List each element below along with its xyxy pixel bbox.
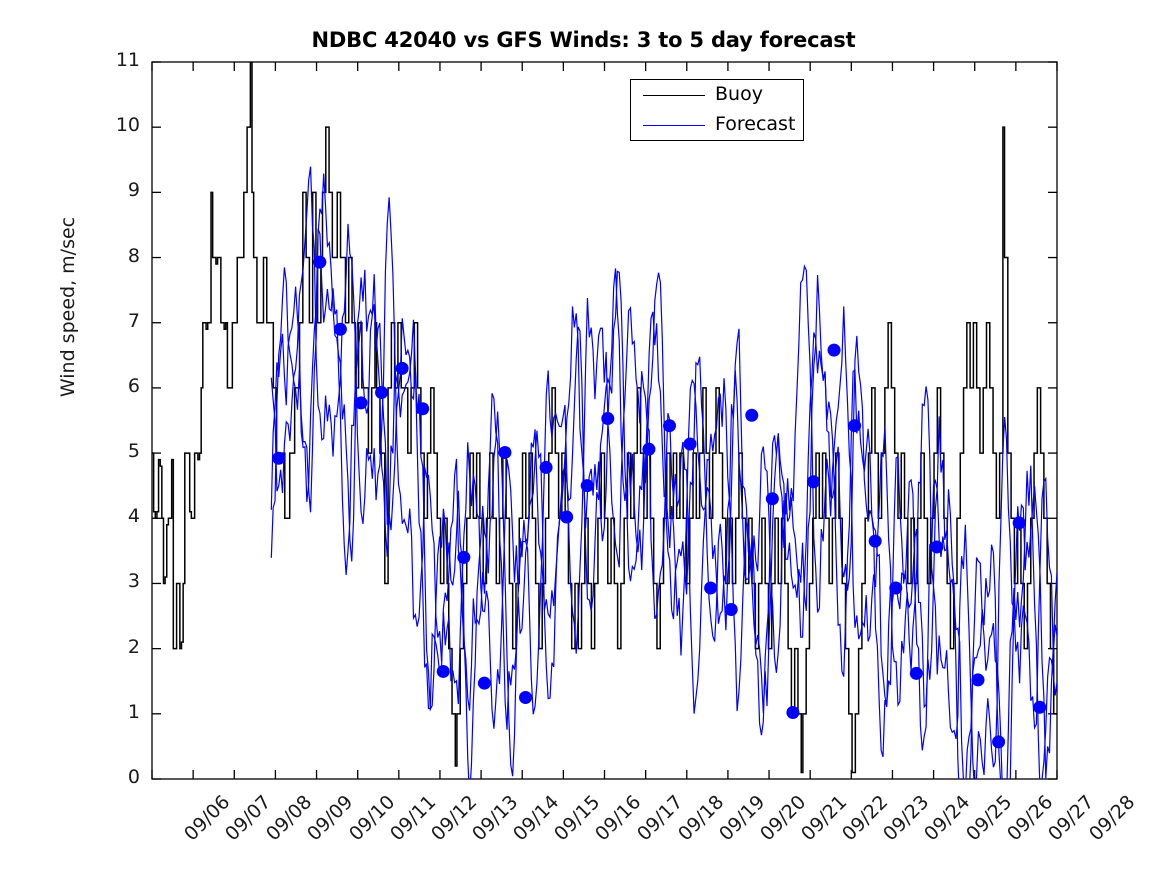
forecast-marker-point (478, 677, 491, 690)
plot-canvas (0, 0, 1167, 875)
y-tick-label-5: 5 (100, 440, 140, 462)
y-tick-label-9: 9 (100, 179, 140, 201)
legend-item-buoy: Buoy (631, 80, 805, 111)
forecast-marker-point (910, 667, 923, 680)
forecast-marker-point (869, 535, 882, 548)
forecast-marker-point (807, 475, 820, 488)
forecast-marker-point (828, 344, 841, 357)
forecast-marker-point (642, 443, 655, 456)
forecast-marker-point (396, 362, 409, 375)
forecast-marker-point (354, 396, 367, 409)
forecast-marker-point (334, 323, 347, 336)
forecast-marker-point (437, 665, 450, 678)
y-tick-label-6: 6 (100, 375, 140, 397)
y-tick-label-1: 1 (100, 701, 140, 723)
forecast-marker-point (581, 479, 594, 492)
forecast-marker-point (519, 691, 532, 704)
forecast-marker-point (375, 386, 388, 399)
forecast-marker-point (313, 256, 326, 269)
forecast-marker-point (766, 492, 779, 505)
legend-item-forecast: Forecast (631, 110, 805, 141)
y-tick-label-2: 2 (100, 636, 140, 658)
legend-label-buoy: Buoy (715, 83, 763, 105)
y-tick-label-4: 4 (100, 505, 140, 527)
forecast-marker-point (704, 582, 717, 595)
forecast-marker-point (848, 419, 861, 432)
legend-label-forecast: Forecast (715, 113, 795, 135)
y-tick-label-10: 10 (100, 114, 140, 136)
forecast-marker-point (992, 735, 1005, 748)
forecast-marker-point (1033, 701, 1046, 714)
y-tick-label-3: 3 (100, 570, 140, 592)
forecast-marker-point (725, 603, 738, 616)
y-tick-label-0: 0 (100, 766, 140, 788)
y-tick-label-11: 11 (100, 49, 140, 71)
forecast-marker-point (457, 551, 470, 564)
legend-swatch-forecast (643, 125, 705, 126)
forecast-marker-point (498, 446, 511, 459)
forecast-marker-point (601, 412, 614, 425)
forecast-marker-point (972, 673, 985, 686)
forecast-marker-point (930, 540, 943, 553)
chart-figure: NDBC 42040 vs GFS Winds: 3 to 5 day fore… (0, 0, 1167, 875)
forecast-marker-point (889, 582, 902, 595)
forecast-marker-point (560, 510, 573, 523)
forecast-marker-point (786, 706, 799, 719)
forecast-marker-point (663, 419, 676, 432)
forecast-marker-point (540, 461, 553, 474)
y-tick-label-7: 7 (100, 310, 140, 332)
chart-legend: Buoy Forecast (630, 79, 804, 141)
forecast-series (271, 167, 1057, 805)
forecast-marker-point (272, 452, 285, 465)
forecast-marker-point (1013, 516, 1026, 529)
forecast-marker-point (684, 437, 697, 450)
forecast-marker-point (745, 409, 758, 422)
forecast-marker-point (416, 402, 429, 415)
y-tick-label-8: 8 (100, 245, 140, 267)
legend-swatch-buoy (643, 95, 705, 96)
